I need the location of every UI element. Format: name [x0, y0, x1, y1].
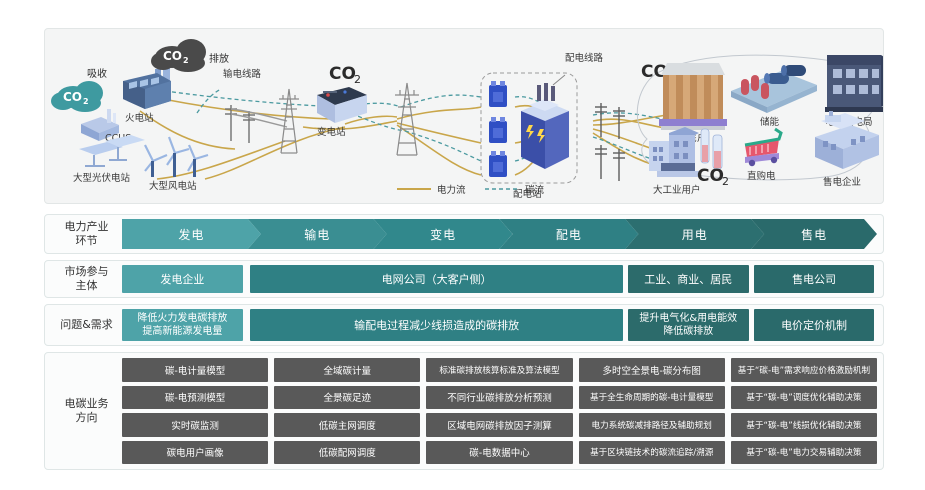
distribution-battery-3	[489, 151, 507, 177]
co2-sub-industry: 2	[722, 175, 729, 188]
thermal-power-plant: 火电站	[123, 63, 171, 124]
problem-block-3[interactable]: 提升电气化&用电能效降低碳排放	[628, 309, 749, 341]
pv-power-station: 大型光伏电站	[73, 135, 145, 184]
absorb-co2-cloud: 吸收 CO 2	[51, 67, 107, 112]
market-block-text: 电网公司（大客户侧）	[382, 273, 492, 286]
problem-block-text: 提升电气化&用电能效降低碳排放	[639, 312, 737, 338]
chain-step-3[interactable]: 变电	[374, 219, 513, 249]
transmission-tower-1	[279, 89, 299, 153]
business-cell[interactable]: 基于“碳-电”调度优化辅助决策	[731, 386, 877, 410]
business-cell[interactable]: 标准碳排放核算标准及算法模型	[426, 358, 572, 382]
energy-storage: 储能	[731, 65, 817, 128]
chain-step-label: 变电	[430, 226, 456, 243]
wind-power-station: 大型风电站	[145, 137, 208, 192]
market-block-text: 发电企业	[160, 273, 204, 286]
problems-needs-row-label: 问题&需求	[51, 318, 122, 332]
market-label-line1: 市场参与	[51, 265, 122, 279]
co2-text-emission: CO	[163, 49, 182, 63]
co2-text-industry: CO	[697, 166, 724, 186]
business-cell[interactable]: 碳电用户画像	[122, 441, 268, 465]
market-block-text: 售电公司	[792, 273, 836, 286]
co2-sub-absorb: 2	[83, 97, 89, 106]
market-participants-row: 市场参与 主体 发电企业电网公司（大客户侧）工业、商业、居民售电公司	[44, 260, 884, 298]
wind-plant-label: 大型风电站	[149, 180, 197, 192]
transmission-line-label: 输电线路	[223, 68, 262, 80]
distribution-station-group: 配电站	[481, 73, 577, 200]
problem-block-line2: 降低碳排放	[639, 325, 737, 338]
market-label-line2: 主体	[51, 279, 122, 293]
market-participants-row-label: 市场参与 主体	[51, 265, 122, 293]
business-cell[interactable]: 不同行业碳排放分析预测	[426, 386, 572, 410]
co2-text-substation: CO	[329, 64, 356, 84]
substation-icon: 变电站	[317, 87, 367, 138]
business-cell[interactable]: 低碳配网调度	[274, 441, 420, 465]
market-block-2[interactable]: 电网公司（大客户侧）	[250, 265, 623, 293]
business-cell[interactable]: 碳-电计量模型	[122, 358, 268, 382]
business-cell[interactable]: 基于“碳-电”需求响应价格激励机制	[731, 358, 877, 382]
problems-needs-blocks: 降低火力发电碳排放提高新能源发电量输配电过程减少线损造成的碳排放提升电气化&用电…	[122, 309, 877, 341]
chain-step-1[interactable]: 发电	[122, 219, 261, 249]
thermal-plant-label: 火电站	[125, 112, 154, 124]
industry-chain-row-label: 电力产业 环节	[51, 220, 122, 248]
chain-step-label: 输电	[304, 226, 330, 243]
industry-chain-row: 电力产业 环节 发电输电变电配电用电售电	[44, 214, 884, 254]
power-flow-legend-label: 电力流	[437, 184, 466, 196]
distribution-line-label: 配电线路	[565, 52, 604, 64]
business-cell[interactable]: 基于全生命周期的碳-电计量模型	[579, 386, 725, 410]
co2-text-absorb: CO	[63, 90, 82, 104]
pv-plant-label: 大型光伏电站	[73, 172, 131, 184]
problem-block-text: 降低火力发电碳排放提高新能源发电量	[137, 312, 227, 338]
industry-chain-label-line1: 电力产业	[51, 220, 122, 234]
market-block-1[interactable]: 发电企业	[122, 265, 243, 293]
business-cell[interactable]: 碳-电数据中心	[426, 441, 572, 465]
carbon-electricity-business-row: 电碳业务 方向 碳-电计量模型全域碳计量标准碳排放核算标准及算法模型多时空全景电…	[44, 352, 884, 470]
distribution-battery-1	[489, 81, 507, 107]
infographic-page: 吸收 CO 2 CCUS	[0, 0, 925, 490]
emission-label: 排放	[209, 52, 229, 65]
problem-block-line1: 提升电气化&用电能效	[639, 312, 737, 325]
chain-step-label: 售电	[801, 226, 827, 243]
business-cell[interactable]: 区域电网碳排放因子测算	[426, 413, 572, 437]
direct-purchase-cart: 直购电	[745, 129, 781, 182]
co2-sub-substation: 2	[354, 73, 361, 86]
retail-company-label: 售电企业	[823, 176, 861, 188]
problem-block-text: 输配电过程减少线损造成的碳排放	[354, 319, 519, 332]
large-industry-label: 大工业用户	[653, 184, 701, 196]
substation-label: 变电站	[317, 126, 346, 138]
market-block-4[interactable]: 售电公司	[754, 265, 875, 293]
business-cell[interactable]: 基于“碳-电”电力交易辅助决策	[731, 441, 877, 465]
chain-step-6[interactable]: 售电	[751, 219, 877, 249]
co2-substation-text: CO 2	[329, 64, 361, 86]
distribution-poles	[595, 103, 625, 181]
problems-needs-row: 问题&需求 降低火力发电碳排放提高新能源发电量输配电过程减少线损造成的碳排放提升…	[44, 304, 884, 346]
business-label-line1: 电碳业务	[51, 397, 122, 411]
business-cell[interactable]: 低碳主网调度	[274, 413, 420, 437]
chain-step-label: 配电	[556, 226, 582, 243]
business-cell[interactable]: 实时碳监测	[122, 413, 268, 437]
distribution-battery-2	[489, 117, 507, 143]
business-direction-grid: 碳-电计量模型全域碳计量标准碳排放核算标准及算法模型多时空全景电-碳分布图基于“…	[122, 358, 877, 464]
problem-block-text: 电价定价机制	[781, 319, 847, 332]
business-cell[interactable]: 碳-电预测模型	[122, 386, 268, 410]
storage-label: 储能	[760, 116, 780, 128]
chain-step-4[interactable]: 配电	[500, 219, 639, 249]
business-cell[interactable]: 多时空全景电-碳分布图	[579, 358, 725, 382]
chain-step-label: 发电	[178, 226, 204, 243]
power-flow-lines	[140, 99, 673, 179]
problem-block-1[interactable]: 降低火力发电碳排放提高新能源发电量	[122, 309, 243, 341]
business-direction-grid-wrap: 碳-电计量模型全域碳计量标准碳排放核算标准及算法模型多时空全景电-碳分布图基于“…	[122, 358, 877, 464]
industry-chain-label-line2: 环节	[51, 234, 122, 248]
chain-step-2[interactable]: 输电	[248, 219, 387, 249]
carbon-flow-legend-label: 碳流	[525, 184, 545, 196]
market-block-3[interactable]: 工业、商业、居民	[628, 265, 749, 293]
market-participants-blocks: 发电企业电网公司（大客户侧）工业、商业、居民售电公司	[122, 265, 877, 293]
problem-block-2[interactable]: 输配电过程减少线损造成的碳排放	[250, 309, 623, 341]
absorb-label: 吸收	[87, 67, 107, 80]
co2-sub-emission: 2	[183, 56, 189, 65]
problems-label-line1: 问题&需求	[51, 318, 122, 332]
energy-carbon-flow-diagram: 吸收 CO 2 CCUS	[44, 28, 884, 204]
industry-chain-chevrons: 发电输电变电配电用电售电	[122, 219, 877, 249]
business-cell[interactable]: 基于区块链技术的碳流追踪/溯源	[579, 441, 725, 465]
market-block-text: 工业、商业、居民	[644, 273, 732, 286]
business-label-line2: 方向	[51, 411, 122, 425]
business-direction-row-label: 电碳业务 方向	[51, 397, 122, 425]
business-cell[interactable]: 电力系统碳减排路径及辅助规划	[579, 413, 725, 437]
distribution-transformer	[521, 75, 569, 169]
chain-step-5[interactable]: 用电	[625, 219, 764, 249]
problem-block-line2: 提高新能源发电量	[137, 325, 227, 338]
problem-block-4[interactable]: 电价定价机制	[754, 309, 875, 341]
large-industry-user: CO 2 大工业用户	[649, 127, 729, 196]
emission-co2-cloud: CO 2 排放	[151, 39, 229, 72]
business-cell[interactable]: 基于“碳-电”线损优化辅助决策	[731, 413, 877, 437]
problem-block-line1: 降低火力发电碳排放	[137, 312, 227, 325]
business-cell[interactable]: 全域碳计量	[274, 358, 420, 382]
chain-step-label: 用电	[682, 226, 708, 243]
business-cell[interactable]: 全景碳足迹	[274, 386, 420, 410]
direct-purchase-label: 直购电	[747, 170, 776, 182]
